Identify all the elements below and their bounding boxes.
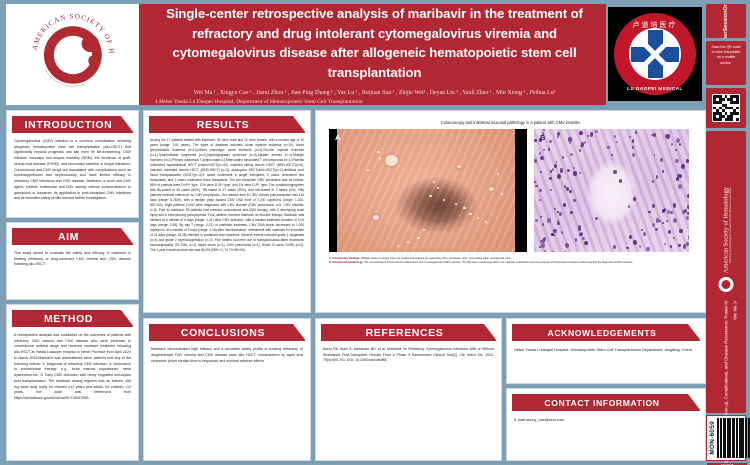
method-heading: METHOD: [44, 313, 93, 325]
acknowledgements-body: Hebei Yanda Ludaopei Hospital, Hematopoi…: [507, 341, 705, 358]
figure-legend: A. Colonoscopy Findings: Multiple ulcers…: [316, 252, 705, 265]
rail-presenter-name: Wei Ma Jr: [733, 301, 738, 320]
aim-body: This study aimed to evaluate the safety …: [7, 245, 138, 273]
lu-daopei-logo-container: 卢道培医疗 LU DAOPEI MEDICAL: [608, 7, 702, 101]
figure-b-tag: B: [540, 133, 545, 142]
figure-panel-a-colonoscopy: A: [329, 129, 527, 252]
qr-code-icon[interactable]: [712, 94, 740, 122]
figure-row: A B: [316, 129, 705, 252]
section-references: REFERENCES Avery RK, Alain S, Alexander …: [315, 318, 502, 461]
section-aim: AIM This study aimed to evaluate the saf…: [6, 222, 139, 300]
poster-id-label: MON-6059: [709, 421, 716, 455]
contact-body: E-mail:sunny_mw@sina.com: [507, 411, 705, 428]
conclusions-body: Maribavir demonstrated high efficacy and…: [144, 341, 310, 369]
figure-legend-b-label: B. Intestinal Histopathology:: [329, 261, 364, 264]
colonoscopy-image: [337, 129, 515, 252]
contact-heading: CONTACT INFORMATION: [544, 398, 659, 408]
references-heading-banner: REFERENCES: [321, 324, 496, 341]
ash-logo-container: AMERICAN SOCIETY OF HEMATOLOGY ~~~~~~~~~…: [6, 4, 139, 105]
title-band: Single-center retrospective analysis of …: [139, 4, 606, 105]
method-body: A retrospective analysis was conducted o…: [7, 327, 138, 407]
scan-instructions: Scan the QR code to view this poster on …: [706, 41, 746, 85]
introduction-heading: INTRODUCTION: [25, 119, 113, 131]
method-heading-banner: METHOD: [12, 310, 133, 327]
aim-heading: AIM: [58, 231, 79, 243]
conclusions-heading-banner: CONCLUSIONS: [149, 324, 305, 341]
poster-session-online-label: PosterSessionOnline: [723, 4, 729, 38]
lu-daopei-logo-icon: 卢道培医疗 LU DAOPEI MEDICAL: [614, 13, 696, 95]
lu-daopei-logo-en: LU DAOPEI MEDICAL: [614, 86, 696, 91]
rail-society-block: American Society of Hematology Helping h…: [706, 131, 746, 413]
section-introduction: INTRODUCTION Cytomegalovirus (CMV) infec…: [6, 110, 139, 218]
conclusions-heading: CONCLUSIONS: [181, 327, 265, 339]
page-title: Single-center retrospective analysis of …: [153, 4, 596, 82]
section-contact-information: CONTACT INFORMATION E-mail:sunny_mw@sina…: [506, 388, 706, 461]
aim-heading-banner: AIM: [12, 228, 133, 245]
figure-legend-a-text: Multiple ulcers of varying sizes are sca…: [361, 257, 512, 260]
figure-caption: Colonoscopy and intestinal mucosal patho…: [316, 111, 705, 129]
results-body: Among the 17 patients treated with Marib…: [144, 133, 310, 258]
barcode-lines-icon: [717, 418, 750, 458]
contact-heading-banner: CONTACT INFORMATION: [512, 394, 700, 411]
poster-canvas: AMERICAN SOCIETY OF HEMATOLOGY ~~~~~~~~~…: [0, 0, 750, 465]
figure-legend-b-text: The mucosal tissue shows chronic inflamm…: [364, 261, 633, 264]
poster-barcode: MON-6059 ASH2025: [706, 415, 746, 461]
introduction-heading-banner: INTRODUCTION: [12, 116, 133, 133]
section-conclusions: CONCLUSIONS Maribavir demonstrated high …: [143, 318, 311, 461]
section-method: METHOD A retrospective analysis was cond…: [6, 304, 139, 461]
acknowledgements-heading: ACKNOWLEDGEMENTS: [548, 328, 657, 338]
lu-daopei-cross-icon: [629, 28, 681, 80]
qr-code-container[interactable]: [706, 88, 746, 128]
introduction-body: Cytomegalovirus (CMV) infection is a com…: [7, 133, 138, 207]
section-figure: Colonoscopy and intestinal mucosal patho…: [315, 110, 706, 313]
affiliation-text: 1.Hebei Yanda Lu Daopei Hospital, Depart…: [153, 98, 596, 106]
references-heading: REFERENCES: [366, 327, 444, 339]
rail-ash-mark-icon: [719, 277, 734, 292]
section-acknowledgements: ACKNOWLEDGEMENTS Hebei Yanda Ludaopei Ho…: [506, 318, 706, 384]
figure-panel-b-histopathology: B: [534, 129, 689, 252]
results-heading: RESULTS: [197, 119, 249, 131]
figure-a-tag: A: [335, 133, 340, 142]
author-list: Wei Ma ¹ , Xingyu Cao ¹ , Jiarui Zhou ¹ …: [153, 89, 596, 98]
acknowledgements-heading-banner: ACKNOWLEDGEMENTS: [512, 324, 700, 341]
figure-legend-a-label: A. Colonoscopy Findings:: [329, 257, 361, 260]
poster-header: AMERICAN SOCIETY OF HEMATOLOGY ~~~~~~~~~…: [6, 4, 706, 105]
histopathology-image: [534, 129, 689, 252]
results-heading-banner: RESULTS: [149, 116, 305, 133]
section-results: RESULTS Among the 17 patients treated wi…: [143, 110, 311, 313]
poster-session-online-logo: PosterSessionOnline: [706, 4, 746, 38]
right-rail: PosterSessionOnline Scan the QR code to …: [706, 4, 746, 461]
references-body: Avery RK, Alain S, Alexander BD, et al. …: [316, 341, 501, 369]
american-society-of-hematology-logo-icon: AMERICAN SOCIETY OF HEMATOLOGY ~~~~~~~~~…: [25, 7, 121, 103]
rail-society-tagline: Helping hematologists conquer blood dise…: [728, 187, 732, 263]
